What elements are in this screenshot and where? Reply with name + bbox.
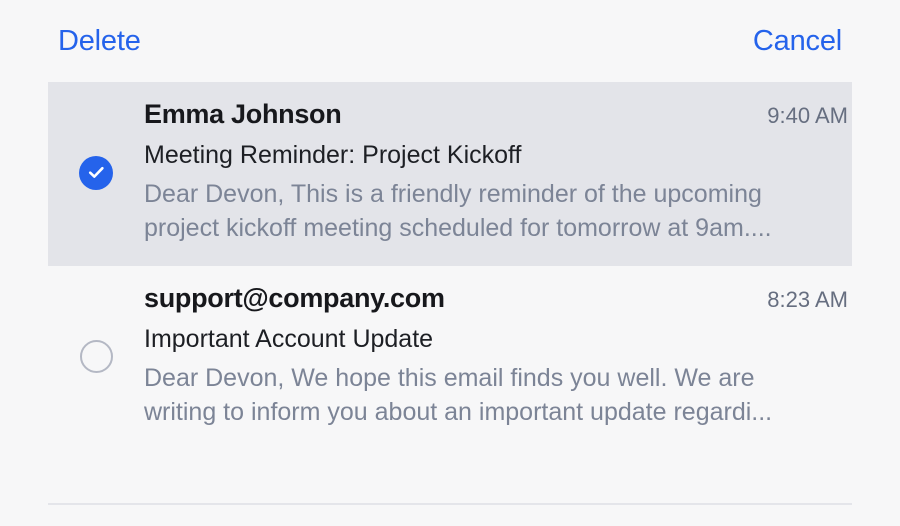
selection-control[interactable] <box>48 282 144 430</box>
message-preview: Dear Devon, We hope this email finds you… <box>144 361 820 430</box>
cancel-button[interactable]: Cancel <box>753 27 842 56</box>
selection-control[interactable] <box>48 98 144 246</box>
message-row[interactable]: support@company.com 8:23 AM Important Ac… <box>48 266 852 450</box>
message-list: Emma Johnson 9:40 AM Meeting Reminder: P… <box>0 82 900 450</box>
message-content: Emma Johnson 9:40 AM Meeting Reminder: P… <box>144 98 852 246</box>
message-content: support@company.com 8:23 AM Important Ac… <box>144 282 852 430</box>
message-subject: Meeting Reminder: Project Kickoff <box>144 138 848 172</box>
sender-name: support@company.com <box>144 282 445 315</box>
check-circle-filled-icon[interactable] <box>79 156 113 190</box>
message-timestamp: 8:23 AM <box>767 287 848 313</box>
message-row[interactable]: Emma Johnson 9:40 AM Meeting Reminder: P… <box>48 82 852 266</box>
delete-button[interactable]: Delete <box>58 27 141 56</box>
selection-toolbar: Delete Cancel <box>0 0 900 82</box>
circle-outline-icon[interactable] <box>80 340 113 373</box>
message-header: Emma Johnson 9:40 AM <box>144 98 848 131</box>
message-timestamp: 9:40 AM <box>767 103 848 129</box>
message-preview: Dear Devon, This is a friendly reminder … <box>144 177 820 246</box>
list-divider <box>48 503 852 505</box>
message-subject: Important Account Update <box>144 322 848 356</box>
sender-name: Emma Johnson <box>144 98 341 131</box>
message-header: support@company.com 8:23 AM <box>144 282 848 315</box>
